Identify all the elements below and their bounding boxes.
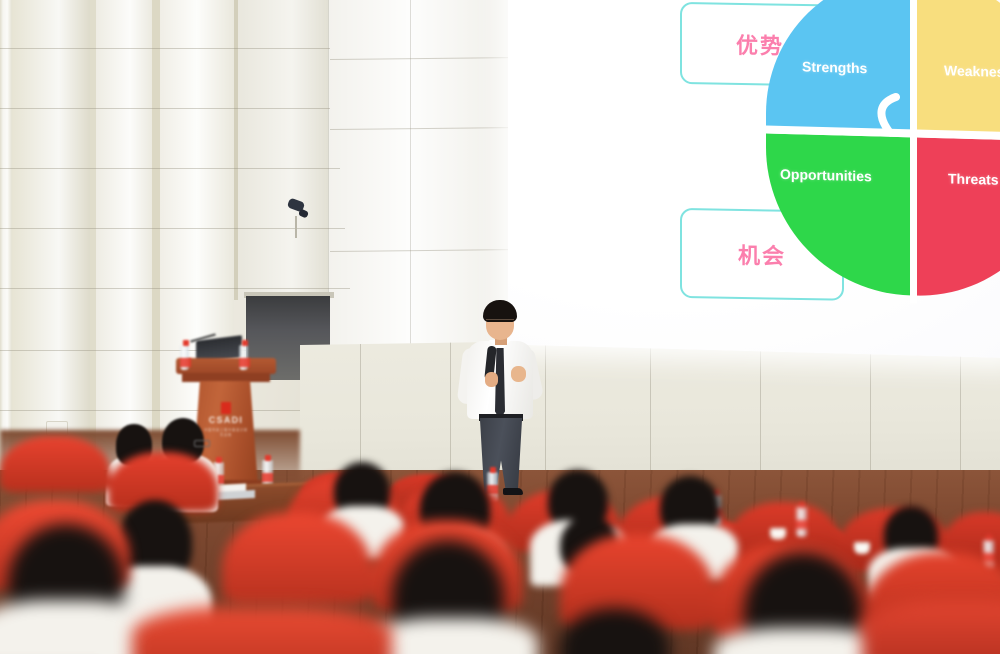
wall-seam — [0, 168, 340, 169]
security-camera-icon — [288, 200, 310, 226]
wall-pilaster — [0, 0, 12, 470]
swot-label-strengths: Strengths — [802, 58, 867, 76]
lectern-top — [176, 358, 276, 374]
swot-label-opportunities: Opportunities — [780, 166, 872, 184]
wall-seam — [0, 108, 330, 109]
attendee-eyeglasses-icon — [194, 440, 210, 447]
seat-foreground — [862, 600, 1000, 654]
wall-seam — [0, 288, 350, 289]
csadi-mark-icon — [221, 402, 231, 414]
water-bottle — [239, 345, 248, 370]
presenter — [455, 300, 545, 495]
wall-seam — [0, 48, 330, 49]
wall-pilaster — [96, 0, 158, 470]
paper-cup — [854, 542, 870, 554]
wall-pilaster — [152, 0, 160, 470]
swot-quadrant-opportunities — [766, 133, 910, 295]
camera-mount — [295, 216, 297, 238]
wall-seam — [328, 0, 329, 300]
wall-seam — [960, 335, 961, 485]
swot-quadrant-threats — [916, 138, 1000, 300]
wall-seam — [0, 228, 345, 229]
wall-seam — [760, 338, 761, 488]
swot-wheel: Strengths Weaknesses Opportunities Threa… — [766, 0, 1000, 318]
wall-seam — [545, 341, 546, 491]
swot-divider-vertical — [910, 0, 917, 304]
presenter-right-hand — [511, 366, 526, 382]
swot-label-threats: Threats — [948, 170, 999, 187]
water-bottle — [796, 507, 807, 537]
seat-foreground — [132, 606, 392, 654]
seat — [0, 436, 110, 492]
paper-cup — [770, 528, 786, 540]
water-bottle — [180, 345, 189, 370]
wall-seam — [870, 336, 871, 486]
presenter-shoe — [503, 488, 523, 495]
presenter-eyeglasses-icon — [486, 319, 514, 326]
attendee-torso — [368, 618, 538, 654]
wall-seam — [650, 339, 651, 489]
presenter-trousers — [479, 418, 523, 494]
wall-pilaster — [12, 0, 90, 470]
projection-screen: 优势 机会 Strengths Weaknesses Opportunities… — [508, 0, 1000, 358]
camera-lens — [298, 208, 309, 218]
presenter-left-hand — [485, 372, 498, 387]
screenshot-root: 优势 机会 Strengths Weaknesses Opportunities… — [0, 0, 1000, 654]
wall-panel — [238, 0, 328, 300]
lectern-top-edge — [182, 373, 270, 382]
swot-label-weaknesses: Weaknesses — [944, 62, 1000, 80]
